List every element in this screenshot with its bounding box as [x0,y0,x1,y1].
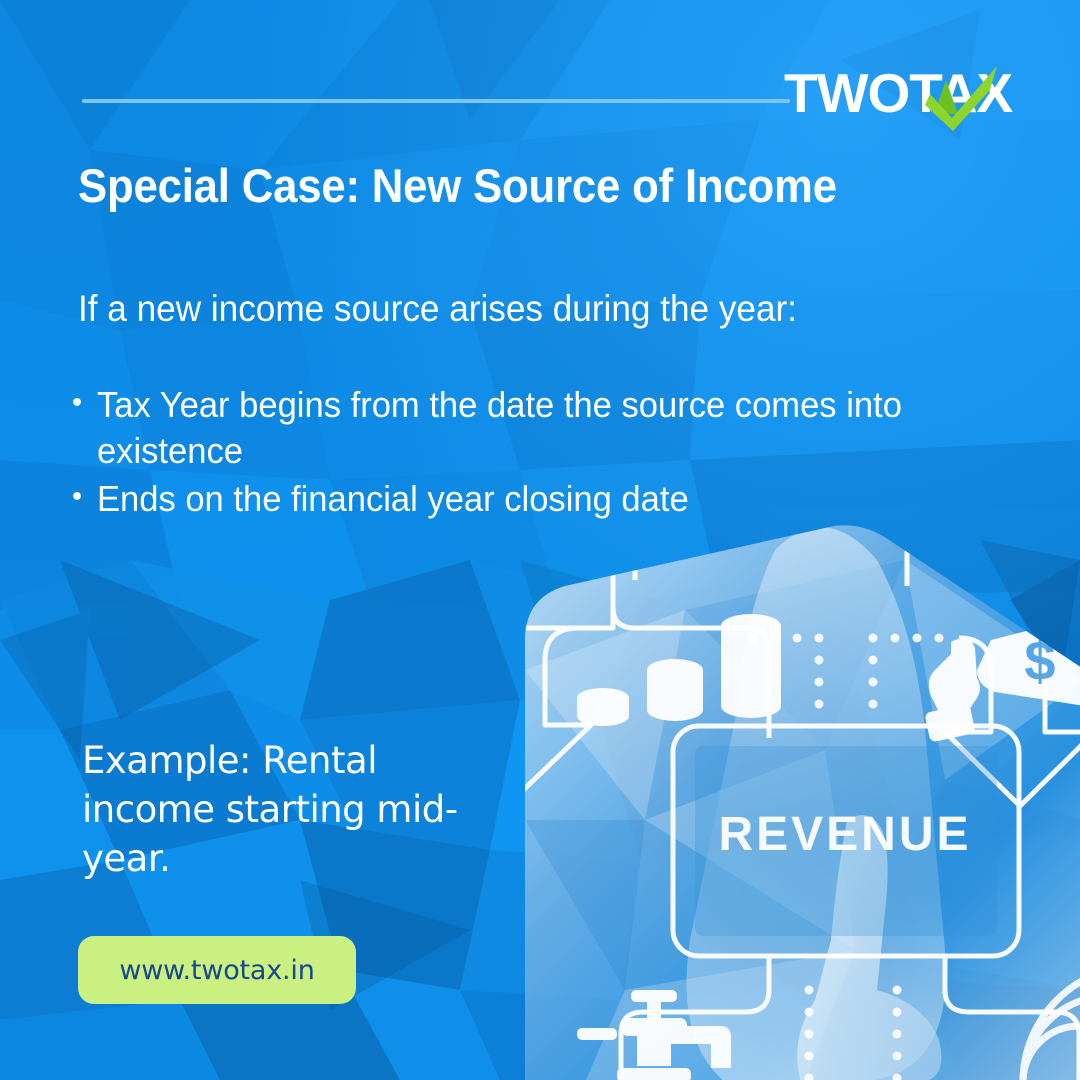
website-url-badge[interactable]: www.twotax.in [78,936,356,1004]
svg-text:$: $ [1024,629,1055,692]
poster-canvas: TWOTAX Special Case: New Source of Incom… [0,0,1080,1080]
page-title: Special Case: New Source of Income [78,160,934,213]
twotax-logo: TWOTAX [784,58,1014,138]
revenue-artwork-svg: REVENUE [525,520,1080,1080]
revenue-screen-label: REVENUE [718,808,971,861]
website-url-label: www.twotax.in [119,955,314,986]
list-item: • Tax Year begins from the date the sour… [72,382,936,474]
bullet-list: • Tax Year begins from the date the sour… [72,382,936,524]
lead-paragraph: If a new income source arises during the… [78,287,971,331]
bullet-text: Tax Year begins from the date the source… [97,382,936,474]
revenue-artwork: REVENUE [525,520,1080,1080]
artwork-clip-group: REVENUE [525,520,1080,1080]
bullet-marker-icon: • [72,476,97,517]
example-note: Example: Rental income starting mid-year… [82,736,502,884]
bullet-marker-icon: • [72,382,97,423]
header-divider [82,99,790,103]
list-item: • Ends on the financial year closing dat… [72,476,936,522]
bullet-text: Ends on the financial year closing date [97,476,936,522]
